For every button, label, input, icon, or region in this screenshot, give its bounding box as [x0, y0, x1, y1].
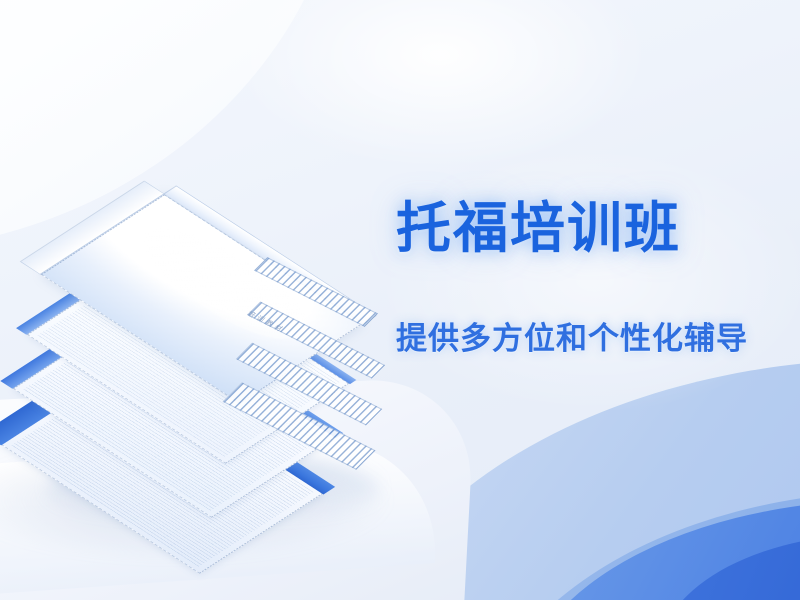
promo-banner: 培训教材 托福培训班 提供多方位和个性化辅导: [0, 0, 800, 600]
book-stack-illustration: 培训教材: [38, 165, 398, 475]
page-subtitle: 提供多方位和个性化辅导: [396, 322, 776, 356]
ambient-glow-top: [230, 0, 650, 170]
page-title: 托福培训班: [396, 200, 776, 258]
wave-bottom-right-accent: [658, 526, 800, 600]
wave-bottom-right-mid: [470, 459, 800, 600]
banner-text-block: 托福培训班 提供多方位和个性化辅导: [396, 200, 776, 356]
wave-bottom-right-dark: [514, 480, 800, 600]
